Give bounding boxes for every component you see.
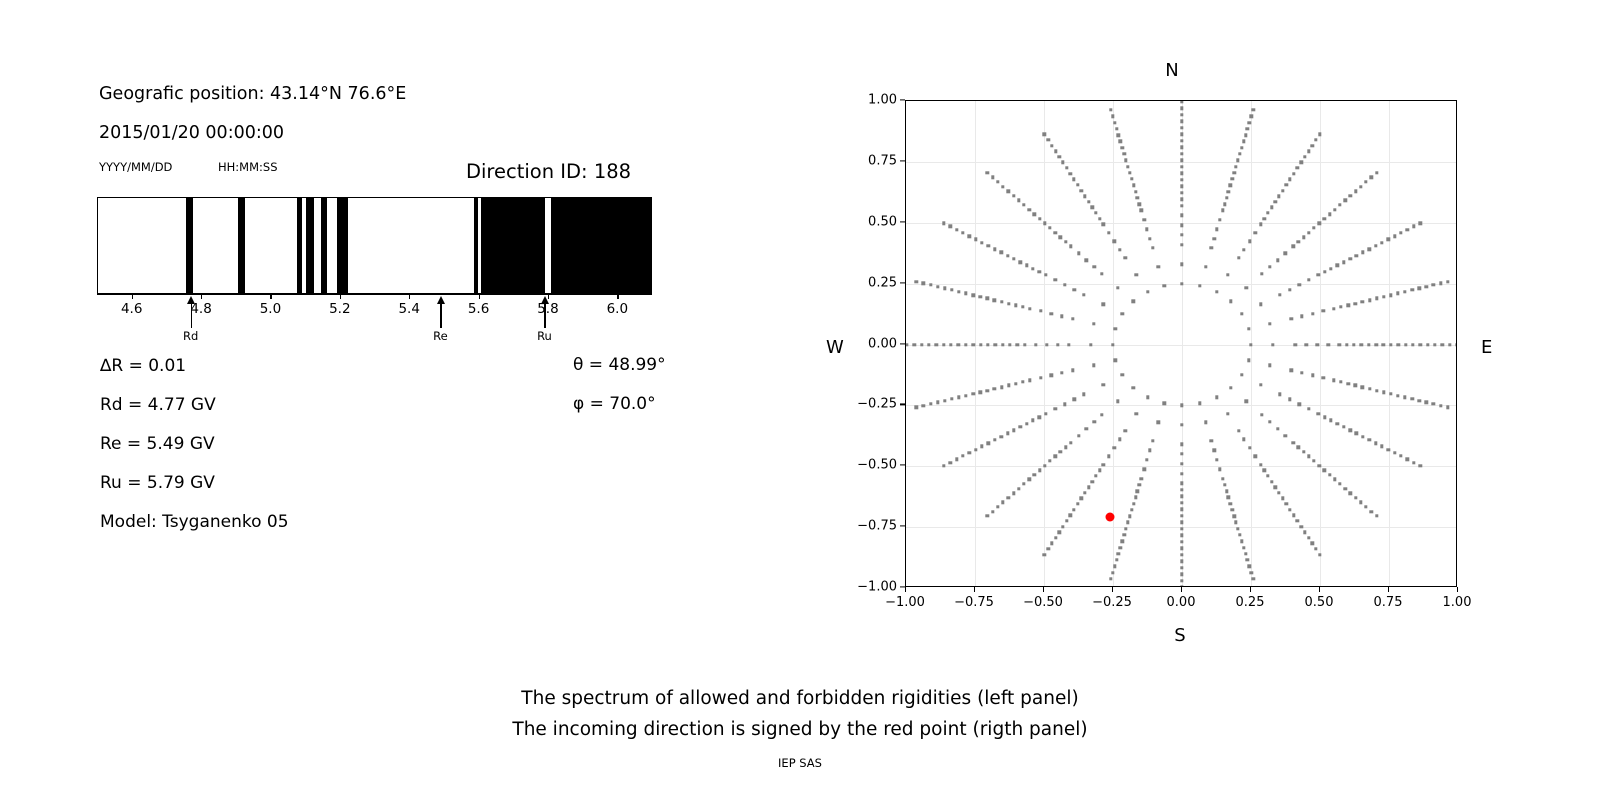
forbidden-band	[238, 198, 245, 293]
scatter-point	[1180, 178, 1183, 181]
scatter-point	[1412, 461, 1415, 464]
x-axis-tick	[974, 587, 975, 592]
scatter-point	[1247, 327, 1250, 330]
scatter-point	[1221, 477, 1224, 480]
scatter-point	[1180, 133, 1183, 136]
scatter-point	[1180, 553, 1183, 556]
scatter-point	[1012, 194, 1015, 197]
scatter-point	[1370, 176, 1373, 179]
date-format-hint: YYYY/MM/DD	[99, 160, 172, 174]
scatter-point	[1083, 194, 1086, 197]
scatter-point	[1077, 252, 1080, 255]
scatter-point	[1085, 258, 1088, 261]
scatter-point	[1242, 248, 1245, 251]
scatter-point	[1111, 115, 1114, 118]
scatter-point	[1028, 379, 1031, 382]
scatter-point	[1274, 485, 1277, 488]
scatter-point	[1180, 560, 1183, 563]
scatter-point	[1215, 290, 1218, 293]
param-rd: Rd = 4.77 GV	[100, 395, 216, 415]
scatter-point	[1138, 202, 1141, 205]
scatter-point	[1368, 247, 1371, 250]
scatter-point	[1263, 469, 1266, 472]
scatter-point	[1302, 235, 1305, 238]
scatter-point	[1180, 482, 1183, 485]
marker-label-re: Re	[433, 329, 448, 343]
x-axis-tick-label: 0.75	[1374, 595, 1403, 610]
scatter-point	[1180, 185, 1183, 188]
axis-tick	[201, 294, 202, 299]
scatter-point	[961, 231, 964, 234]
scatter-point	[1115, 127, 1118, 130]
scatter-point	[1117, 133, 1120, 136]
scatter-point	[1063, 402, 1066, 405]
scatter-point	[1046, 138, 1049, 141]
scatter-point	[1288, 288, 1291, 291]
scatter-point	[1237, 256, 1240, 259]
scatter-point	[1016, 343, 1019, 346]
scatter-point	[1292, 172, 1295, 175]
axis-tick-label: 5.0	[260, 301, 281, 317]
scatter-point	[1162, 284, 1165, 287]
scatter-point	[1227, 496, 1230, 499]
scatter-point	[1050, 312, 1053, 315]
geographic-position-label: Geografic position: 43.14°N 76.6°E	[99, 84, 406, 104]
scatter-point	[1130, 508, 1133, 511]
scatter-point	[1382, 295, 1385, 298]
scatter-point	[1080, 497, 1083, 500]
scatter-point	[1044, 412, 1047, 415]
scatter-point	[1355, 432, 1358, 435]
scatter-point	[1113, 239, 1116, 242]
scatter-point	[1296, 166, 1299, 169]
scatter-point	[1071, 369, 1074, 372]
scatter-point	[1284, 434, 1287, 437]
axis-tick-label: 5.4	[398, 301, 419, 317]
scatter-point	[1118, 248, 1121, 251]
y-axis-tick-label: 0.50	[843, 214, 897, 229]
scatter-point	[1101, 303, 1104, 306]
scatter-point	[1359, 501, 1362, 504]
scatter-point	[1121, 312, 1124, 315]
scatter-point	[1180, 540, 1183, 543]
scatter-point	[999, 435, 1002, 438]
scatter-point	[1064, 240, 1067, 243]
scatter-point	[1067, 343, 1070, 346]
scatter-point	[1073, 398, 1076, 401]
scatter-point	[1231, 177, 1234, 180]
scatter-point	[1344, 199, 1347, 202]
scatter-point	[1317, 273, 1320, 276]
x-axis-tick-label: −0.50	[1023, 595, 1063, 610]
scatter-point	[1292, 514, 1295, 517]
scatter-point	[1076, 183, 1079, 186]
scatter-point	[1130, 177, 1133, 180]
forbidden-band	[481, 198, 545, 293]
scatter-point	[1000, 385, 1003, 388]
param-phi: φ = 70.0°	[573, 394, 656, 414]
scatter-point	[1180, 579, 1183, 582]
scatter-point	[1022, 482, 1025, 485]
scatter-point	[1039, 309, 1042, 312]
scatter-point	[1432, 402, 1435, 405]
scatter-point	[1278, 293, 1281, 296]
scatter-point	[1065, 519, 1068, 522]
scatter-point	[1387, 238, 1390, 241]
scatter-point	[1318, 464, 1321, 467]
scatter-point	[1012, 428, 1015, 431]
scatter-point	[999, 251, 1002, 254]
scatter-point	[991, 176, 994, 179]
scatter-point	[1043, 464, 1046, 467]
scatter-point	[1180, 191, 1183, 194]
scatter-point	[991, 510, 994, 513]
scatter-point	[1140, 209, 1143, 212]
x-axis-tick	[1181, 587, 1182, 592]
scatter-point	[1180, 404, 1183, 407]
y-axis-tick	[900, 343, 905, 344]
scatter-point	[1245, 400, 1248, 403]
scatter-point	[1374, 244, 1377, 247]
scatter-point	[1339, 380, 1342, 383]
scatter-point	[1039, 376, 1042, 379]
scatter-point	[950, 397, 953, 400]
scatter-point	[948, 461, 951, 464]
scatter-point	[1316, 343, 1319, 346]
scatter-point	[1092, 364, 1095, 367]
scatter-point	[1082, 393, 1085, 396]
scatter-point	[1403, 396, 1406, 399]
scatter-point	[1115, 558, 1118, 561]
scatter-point	[1396, 394, 1399, 397]
scatter-point	[1240, 146, 1243, 149]
scatter-point	[1043, 553, 1046, 556]
marker-label-rd: Rd	[183, 329, 198, 343]
scatter-point	[993, 247, 996, 250]
scatter-point	[1361, 300, 1364, 303]
y-axis-tick-label: 0.75	[843, 153, 897, 168]
scatter-point	[1297, 240, 1300, 243]
scatter-point	[922, 404, 925, 407]
time-format-hint: HH:MM:SS	[218, 160, 278, 174]
rigidity-spectrum-bar	[97, 197, 652, 294]
scatter-point	[1050, 542, 1053, 545]
scatter-point	[1433, 343, 1436, 346]
scatter-point	[1237, 429, 1240, 432]
scatter-point	[1210, 439, 1213, 442]
scatter-point	[1017, 487, 1020, 490]
scatter-point	[1025, 422, 1028, 425]
scatter-point	[1374, 343, 1377, 346]
scatter-point	[1121, 146, 1124, 149]
scatter-point	[1234, 165, 1237, 168]
axis-tick	[479, 294, 480, 299]
y-axis-tick	[900, 404, 905, 405]
scatter-point	[1240, 540, 1243, 543]
scatter-point	[1367, 343, 1370, 346]
scatter-point	[1303, 155, 1306, 158]
scatter-point	[1180, 139, 1183, 142]
scatter-point	[1355, 254, 1358, 257]
scatter-point	[1328, 473, 1331, 476]
scatter-point	[1311, 312, 1314, 315]
scatter-point	[1276, 427, 1279, 430]
scatter-point	[1128, 171, 1131, 174]
scatter-point	[1329, 419, 1332, 422]
scatter-point	[1033, 213, 1036, 216]
x-axis-tick-label: −1.00	[885, 595, 925, 610]
scatter-point	[943, 399, 946, 402]
scatter-point	[1284, 252, 1287, 255]
scatter-point	[1293, 343, 1296, 346]
scatter-point	[936, 401, 939, 404]
scatter-point	[1244, 133, 1247, 136]
scatter-point	[1375, 514, 1378, 517]
scatter-point	[1138, 483, 1141, 486]
scatter-point	[1323, 270, 1326, 273]
scatter-point	[1071, 317, 1074, 320]
scatter-point	[950, 288, 953, 291]
scatter-point	[1314, 138, 1317, 141]
scatter-point	[1094, 474, 1097, 477]
scatter-point	[1221, 209, 1224, 212]
scatter-point	[1364, 505, 1367, 508]
scatter-point	[1393, 234, 1396, 237]
spectrum-axis-line	[97, 294, 652, 295]
scatter-point	[1180, 452, 1183, 455]
scatter-point	[1060, 371, 1063, 374]
scatter-point	[1290, 317, 1293, 320]
scatter-point	[1180, 472, 1183, 475]
scatter-point	[1348, 428, 1351, 431]
scatter-point	[1396, 343, 1399, 346]
scatter-point	[979, 343, 982, 346]
x-axis-tick	[1112, 587, 1113, 592]
scatter-point	[1038, 217, 1041, 220]
scatter-point	[996, 505, 999, 508]
scatter-point	[936, 285, 939, 288]
scatter-point	[1374, 441, 1377, 444]
scatter-point	[1260, 272, 1263, 275]
marker-arrow-ru	[544, 302, 546, 328]
scatter-point	[1419, 343, 1422, 346]
y-axis-tick	[900, 465, 905, 466]
scatter-point	[1248, 121, 1251, 124]
scatter-point	[1229, 300, 1232, 303]
scatter-point	[1113, 121, 1116, 124]
scatter-point	[1439, 404, 1442, 407]
scatter-point	[993, 438, 996, 441]
scatter-point	[1342, 425, 1345, 428]
scatter-point	[1050, 374, 1053, 377]
y-axis-tick	[900, 526, 905, 527]
scatter-point	[1069, 245, 1072, 248]
scatter-point	[1091, 206, 1094, 209]
scatter-point	[1098, 469, 1101, 472]
scatter-point	[1333, 208, 1336, 211]
scatter-point	[1418, 399, 1421, 402]
scatter-point	[1226, 273, 1229, 276]
y-axis-tick-label: −1.00	[843, 580, 897, 595]
scatter-point	[1432, 283, 1435, 286]
scatter-point	[1281, 189, 1284, 192]
scatter-point	[979, 295, 982, 298]
forbidden-band	[297, 198, 301, 293]
scatter-point	[1361, 435, 1364, 438]
scatter-point	[1251, 577, 1254, 580]
scatter-point	[1180, 282, 1183, 285]
scatter-point	[1382, 343, 1385, 346]
scatter-point	[1247, 359, 1250, 362]
scatter-point	[1001, 185, 1004, 188]
scatter-point	[1014, 304, 1017, 307]
direction-id-label: Direction ID: 188	[466, 160, 631, 183]
forbidden-band	[321, 198, 327, 293]
scatter-point	[1124, 527, 1127, 530]
scatter-point	[1288, 178, 1291, 181]
scatter-point	[1212, 449, 1215, 452]
direction-map-panel: −1.00−0.75−0.50−0.250.000.250.500.751.00…	[800, 0, 1600, 660]
scatter-point	[1142, 467, 1145, 470]
scatter-point	[986, 389, 989, 392]
scatter-point	[1126, 165, 1129, 168]
scatter-point	[1092, 265, 1095, 268]
scatter-point	[979, 390, 982, 393]
scatter-point	[1297, 446, 1300, 449]
scatter-point	[1323, 415, 1326, 418]
scatter-point	[1180, 214, 1183, 217]
scatter-point	[1399, 454, 1402, 457]
scatter-point	[1132, 502, 1135, 505]
scatter-point	[1260, 413, 1263, 416]
axis-tick	[270, 294, 271, 299]
scatter-point	[1238, 533, 1241, 536]
scatter-point	[1113, 565, 1116, 568]
x-axis-tick	[1457, 587, 1458, 592]
scatter-point	[1389, 392, 1392, 395]
scatter-point	[1148, 449, 1151, 452]
scatter-point	[1307, 149, 1310, 152]
axis-tick	[409, 294, 410, 299]
scatter-point	[957, 290, 960, 293]
scatter-point	[1180, 146, 1183, 149]
scatter-point	[1292, 245, 1295, 248]
scatter-point	[1157, 265, 1160, 268]
param-theta: θ = 48.99°	[573, 355, 666, 375]
scatter-point	[971, 293, 974, 296]
scatter-point	[1380, 241, 1383, 244]
scatter-point	[1033, 473, 1036, 476]
forbidden-band	[186, 198, 193, 293]
scatter-point	[1053, 455, 1056, 458]
scatter-point	[1342, 260, 1345, 263]
scatter-point	[1007, 496, 1010, 499]
scatter-point	[1240, 373, 1243, 376]
scatter-point	[1180, 527, 1183, 530]
scatter-point	[1107, 455, 1110, 458]
param-ru: Ru = 5.79 GV	[100, 473, 215, 493]
scatter-point	[1270, 206, 1273, 209]
scatter-point	[1048, 226, 1051, 229]
scatter-point	[1180, 152, 1183, 155]
y-axis-tick-label: −0.75	[843, 519, 897, 534]
scatter-point	[1352, 343, 1355, 346]
scatter-point	[1307, 231, 1310, 234]
forbidden-band	[551, 198, 652, 293]
scatter-point	[915, 406, 918, 409]
scatter-point	[994, 343, 997, 346]
scatter-point	[1180, 443, 1183, 446]
scatter-point	[1268, 265, 1271, 268]
scatter-point	[1310, 542, 1313, 545]
scatter-point	[1349, 194, 1352, 197]
scatter-point	[1215, 228, 1218, 231]
scatter-point	[1063, 283, 1066, 286]
scatter-point	[1393, 451, 1396, 454]
param-delta-r: ∆R = 0.01	[100, 356, 186, 376]
axis-tick-label: 6.0	[607, 301, 628, 317]
scatter-point	[1448, 343, 1451, 346]
scatter-point	[1278, 393, 1281, 396]
scatter-point	[1180, 159, 1183, 162]
scatter-point	[1180, 585, 1183, 586]
x-axis-tick	[1250, 587, 1251, 592]
scatter-point	[1344, 487, 1347, 490]
scatter-point	[1268, 364, 1271, 367]
scatter-point	[1410, 288, 1413, 291]
scatter-point	[1180, 462, 1183, 465]
scatter-point	[949, 343, 952, 346]
scatter-point	[1025, 264, 1028, 267]
scatter-point	[1336, 264, 1339, 267]
scatter-point	[957, 396, 960, 399]
scatter-point	[1368, 387, 1371, 390]
scatter-point	[1007, 384, 1010, 387]
scatter-point	[1111, 343, 1114, 346]
scatter-point	[1180, 423, 1183, 426]
scatter-point	[1180, 101, 1183, 103]
scatter-point	[1180, 172, 1183, 175]
scatter-point	[1145, 228, 1148, 231]
scatter-point	[1109, 108, 1112, 111]
scatter-point	[1346, 304, 1349, 307]
scatter-point	[1076, 502, 1079, 505]
scatter-point	[1027, 478, 1030, 481]
scatter-point	[1118, 438, 1121, 441]
scatter-point	[1288, 508, 1291, 511]
scatter-point	[1092, 420, 1095, 423]
scatter-point	[1245, 286, 1248, 289]
scatter-point	[1375, 389, 1378, 392]
scatter-point	[929, 402, 932, 405]
scatter-point	[1134, 190, 1137, 193]
scatter-point	[1180, 547, 1183, 550]
scatter-point	[980, 445, 983, 448]
x-axis-tick-label: 0.00	[1167, 595, 1196, 610]
scatter-point	[1117, 552, 1120, 555]
scatter-point	[1290, 369, 1293, 372]
scatter-point	[1064, 446, 1067, 449]
scatter-point	[1204, 420, 1207, 423]
scatter-point	[1135, 412, 1138, 415]
scatter-point	[1446, 280, 1449, 283]
scatter-point	[1223, 483, 1226, 486]
scatter-point	[1151, 439, 1154, 442]
scatter-point	[1229, 184, 1232, 187]
scatter-point	[1204, 265, 1207, 268]
scatter-point	[1318, 133, 1321, 136]
scatter-point	[1180, 223, 1183, 226]
